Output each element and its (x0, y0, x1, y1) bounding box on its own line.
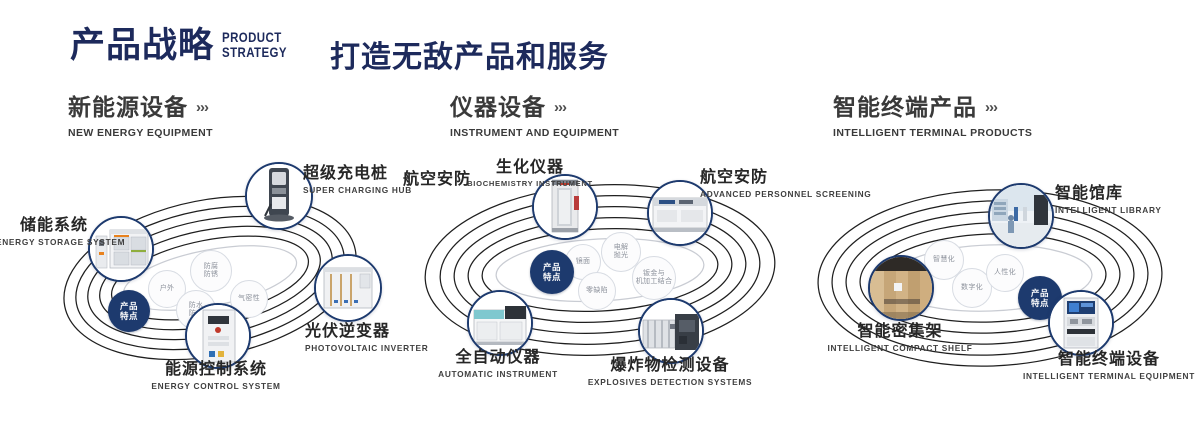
node-energy-storage-system[interactable] (88, 216, 154, 282)
section-heading-en: INSTRUMENT AND EQUIPMENT (450, 127, 619, 139)
label-cn: 生化仪器 (465, 158, 595, 177)
diagram-new-energy-equipment: 防腐防锈 户外 防水防尘 气密性 产品特点 储能系统 ENERGY STORAG… (0, 150, 420, 420)
energy-control-cabinet-icon (187, 305, 249, 367)
intelligent-library-room-icon (990, 185, 1052, 247)
page-subtitle: 打造无敌产品和服务 (330, 32, 609, 76)
node-intelligent-library[interactable] (988, 183, 1054, 249)
page-header: 产品战略 PRODUCT STRATEGY 打造无敌产品和服务 (0, 0, 1200, 88)
energy-storage-cabinet-icon (90, 218, 152, 280)
label-en: INTELLIGENT LIBRARY (1055, 205, 1162, 216)
photovoltaic-inverter-cabinet-icon (316, 256, 380, 320)
label-biochemistry-instrument: 生化仪器 BIOCHEMISTRY INSTRUMENT (465, 158, 595, 190)
label-cn: 能源控制系统 (94, 360, 338, 379)
label-energy-storage-system: 储能系统 ENERGY STORAGE SYSTEM (0, 216, 88, 248)
label-energy-control-system: 能源控制系统 ENERGY CONTROL SYSTEM (94, 360, 338, 392)
label-intelligent-terminal-equipment: 智能终端设备 INTELLIGENT TERMINAL EQUIPMENT (1018, 350, 1200, 382)
label-intelligent-compact-shelf: 智能密集架 INTELLIGENT COMPACT SHELF (826, 322, 974, 354)
diagram-intelligent-terminal-products: 智慧化 数字化 人性化 产品特点 智能馆库 INTELLIGENT LIBRAR… (790, 150, 1200, 420)
feature-bubble: 人性化 (986, 254, 1024, 292)
label-en: ENERGY STORAGE SYSTEM (0, 237, 88, 248)
page-title-en: PRODUCT STRATEGY (222, 30, 287, 60)
section-heading-cn: 仪器设备››› (450, 94, 619, 121)
chevrons-icon: ››› (196, 95, 208, 121)
label-aviation-security-left: 航空安防 (403, 170, 471, 189)
label-cn: 全自动仪器 (419, 348, 577, 367)
section-heading-cn: 新能源设备››› (68, 94, 213, 121)
self-service-kiosk-icon (1050, 292, 1112, 354)
page-title-en-line2: STRATEGY (222, 45, 287, 60)
label-cn: 爆炸物检测设备 (585, 356, 755, 375)
feature-bubble: 防腐防锈 (190, 250, 232, 292)
label-cn: 储能系统 (0, 216, 88, 235)
automatic-instrument-icon (469, 292, 531, 354)
node-automatic-instrument[interactable] (467, 290, 533, 356)
node-intelligent-terminal-equipment[interactable] (1048, 290, 1114, 356)
section-heading-en: NEW ENERGY EQUIPMENT (68, 127, 213, 139)
section-heading-instrument: 仪器设备››› INSTRUMENT AND EQUIPMENT (450, 94, 619, 139)
label-en: AUTOMATIC INSTRUMENT (419, 369, 577, 380)
section-heading-en: INTELLIGENT TERMINAL PRODUCTS (833, 127, 1032, 139)
chevrons-icon: ››› (985, 95, 997, 121)
label-en: EXPLOSIVES DETECTION SYSTEMS (585, 377, 755, 388)
label-explosives-detection-systems: 爆炸物检测设备 EXPLOSIVES DETECTION SYSTEMS (585, 356, 755, 388)
feature-bubble: 钣金与机加工结合 (632, 256, 676, 300)
diagram-instrument-and-equipment: 镜面 电解抛光 零缺陷 钣金与机加工结合 产品特点 航空安防 生化仪器 BIOC… (395, 150, 815, 420)
section-heading-cn: 智能终端产品››› (833, 94, 1032, 121)
label-en: INTELLIGENT TERMINAL EQUIPMENT (1018, 371, 1200, 382)
super-charging-pile-icon (247, 164, 311, 228)
chevrons-icon: ››› (554, 95, 566, 121)
core-bubble-product-features: 产品特点 (530, 250, 574, 294)
node-photovoltaic-inverter[interactable] (314, 254, 382, 322)
core-bubble-product-features: 产品特点 (108, 290, 150, 332)
page-title-en-line1: PRODUCT (222, 30, 287, 45)
section-heading-new-energy: 新能源设备››› NEW ENERGY EQUIPMENT (68, 94, 213, 139)
label-cn: 智能终端设备 (1018, 350, 1200, 369)
label-cn: 智能密集架 (826, 322, 974, 341)
page-title-cn: 产品战略 (70, 26, 214, 66)
compact-shelving-icon (870, 257, 932, 319)
label-cn: 智能馆库 (1055, 184, 1162, 203)
label-cn: 航空安防 (403, 170, 471, 189)
feature-bubble: 零缺陷 (578, 272, 616, 310)
label-en: ENERGY CONTROL SYSTEM (94, 381, 338, 392)
label-intelligent-library: 智能馆库 INTELLIGENT LIBRARY (1055, 184, 1162, 216)
section-heading-intelligent-terminal: 智能终端产品››› INTELLIGENT TERMINAL PRODUCTS (833, 94, 1032, 139)
label-en: INTELLIGENT COMPACT SHELF (826, 343, 974, 354)
node-intelligent-compact-shelf[interactable] (868, 255, 934, 321)
node-explosives-detection-systems[interactable] (638, 298, 704, 364)
label-automatic-instrument: 全自动仪器 AUTOMATIC INSTRUMENT (419, 348, 577, 380)
label-en: BIOCHEMISTRY INSTRUMENT (465, 179, 595, 190)
explosives-detector-icon (640, 300, 702, 362)
